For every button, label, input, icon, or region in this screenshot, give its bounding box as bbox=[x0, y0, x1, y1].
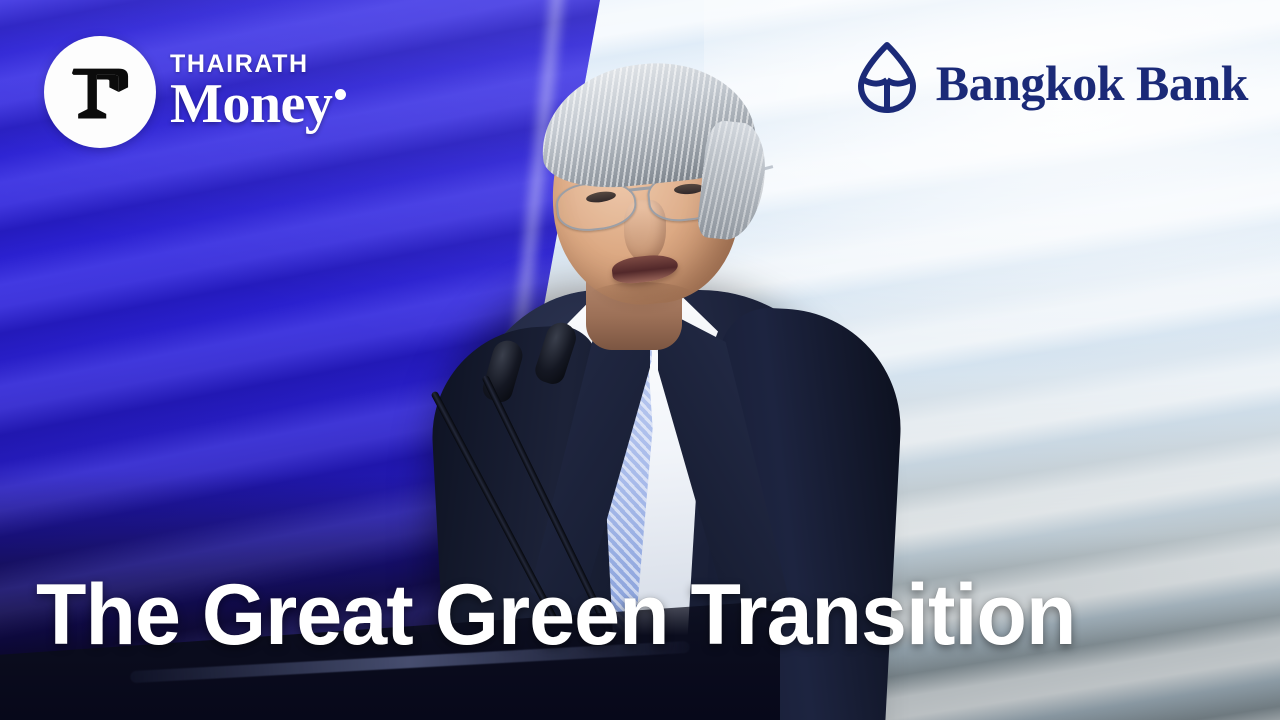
video-thumbnail: THAIRATH Money Bangkok Bank The Great Gr… bbox=[0, 0, 1280, 720]
thairath-dot-icon bbox=[335, 89, 346, 100]
thairath-money-logo[interactable]: THAIRATH Money bbox=[44, 36, 346, 148]
bangkok-bank-leaf-icon bbox=[856, 40, 918, 126]
page-title: The Great Green Transition bbox=[36, 572, 1075, 658]
chin-shadow bbox=[586, 282, 698, 316]
thairath-money-wordmark: THAIRATH Money bbox=[170, 52, 346, 132]
bangkok-bank-logo[interactable]: Bangkok Bank bbox=[856, 40, 1248, 126]
bangkok-bank-wordmark: Bangkok Bank bbox=[936, 54, 1248, 112]
thairath-tor-glyph-icon bbox=[44, 36, 156, 148]
microphone-head bbox=[532, 319, 580, 387]
thairath-wordmark-line2: Money bbox=[170, 78, 346, 132]
hair-side bbox=[696, 119, 770, 243]
